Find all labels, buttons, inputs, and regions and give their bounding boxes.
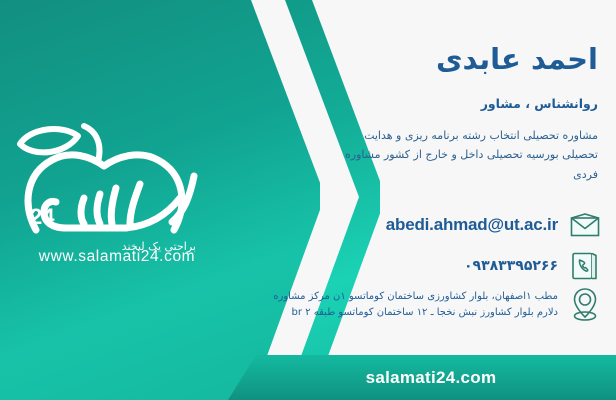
envelope-icon (568, 208, 602, 242)
address-line-2: دلارم بلوار کشاورز نبش نخجا ـ ۱۲ ساختمان… (310, 305, 558, 322)
phone-book-icon (568, 249, 602, 283)
services-description: مشاوره تحصیلی انتخاب رشته برنامه ریزی و … (316, 126, 598, 184)
address-line-1: مطب ۱اصفهان، بلوار کشاورزی ساختمان کومات… (310, 289, 558, 306)
card-content: احمد عابدی روانشناس ، مشاور مشاوره تحصیل… (300, 0, 616, 400)
contact-row-address[interactable]: مطب ۱اصفهان، بلوار کشاورزی ساختمان کومات… (310, 288, 602, 322)
description-line-2: تحصیلی بورسیه تحصیلی داخل و خارج از کشور… (316, 145, 598, 164)
contact-row-phone[interactable]: ۰۹۳۸۳۳۹۵۲۶۶ (464, 249, 602, 283)
logo-website: www.salamati24.com (12, 248, 222, 266)
footer-website[interactable]: salamati24.com (348, 368, 497, 388)
contact-row-email[interactable]: abedi.ahmad@ut.ac.ir (386, 208, 602, 242)
footer-bar: salamati24.com (228, 355, 616, 400)
description-line-1: مشاوره تحصیلی انتخاب رشته برنامه ریزی و … (316, 126, 598, 145)
location-pin-icon (568, 288, 602, 322)
address-text: مطب ۱اصفهان، بلوار کشاورزی ساختمان کومات… (310, 289, 558, 322)
business-card: 24 براحتی یک لبخند www.salamati24.com اح… (0, 0, 616, 400)
logo-number: 24 (30, 204, 55, 229)
email-address[interactable]: abedi.ahmad@ut.ac.ir (386, 215, 558, 235)
phone-number[interactable]: ۰۹۳۸۳۳۹۵۲۶۶ (464, 258, 558, 274)
page-title: احمد عابدی (436, 42, 598, 76)
description-line-3: فردی (316, 165, 598, 184)
job-title: روانشناس ، مشاور (481, 96, 598, 111)
